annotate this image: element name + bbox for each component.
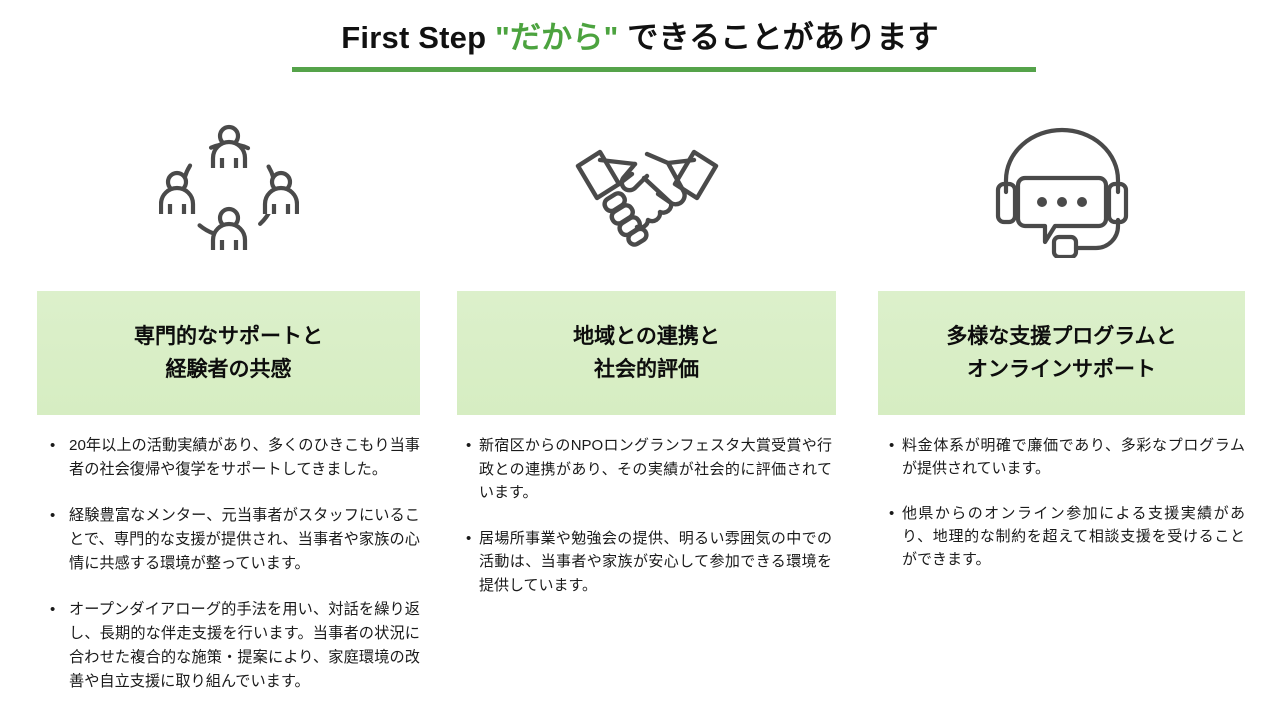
bullet-marker-icon: • [465, 434, 479, 458]
list-item: • 経験豊富なメンター、元当事者がスタッフにいることで、専門的な支援が提供され、… [47, 504, 420, 576]
headset-support-icon [878, 110, 1245, 270]
list-item: • 料金体系が明確で廉価であり、多彩なプログラムが提供されています。 [888, 434, 1245, 480]
list-item: • 他県からのオンライン参加による支援実績があり、地理的な制約を超えて相談支援を… [888, 502, 1245, 571]
list-item-text: 居場所事業や勉強会の提供、明るい雰囲気の中での活動は、当事者や家族が安心して参加… [479, 527, 832, 598]
list-item-text: オープンダイアローグ的手法を用い、対話を繰り返し、長期的な伴走支援を行います。当… [69, 598, 420, 694]
column-3-heading-line-2: オンラインサポート [967, 353, 1156, 386]
list-item-text: 新宿区からのNPOロングランフェスタ大賞受賞や行政との連携があり、その実績が社会… [479, 434, 832, 505]
list-item: • オープンダイアローグ的手法を用い、対話を繰り返し、長期的な伴走支援を行います… [47, 598, 420, 694]
page-title-tail: できることがあります [618, 20, 938, 55]
list-item-text: 20年以上の活動実績があり、多くのひきこもり当事者の社会復帰や復学をサポートして… [69, 434, 420, 482]
list-item-text: 経験豊富なメンター、元当事者がスタッフにいることで、専門的な支援が提供され、当事… [69, 504, 420, 576]
bullet-marker-icon: • [47, 504, 69, 528]
people-network-icon [37, 110, 420, 270]
page-title-lead: First Step [341, 20, 495, 55]
column-3-heading-box: 多様な支援プログラムと オンラインサポート [878, 291, 1245, 415]
slide-title-block: First Step "だから" できることがあります [0, 18, 1280, 58]
bullet-marker-icon: • [47, 434, 69, 458]
list-item: • 居場所事業や勉強会の提供、明るい雰囲気の中での活動は、当事者や家族が安心して… [465, 527, 832, 598]
column-2-heading-line-2: 社会的評価 [594, 353, 699, 386]
column-2-bullet-list: • 新宿区からのNPOロングランフェスタ大賞受賞や行政との連携があり、その実績が… [457, 434, 836, 619]
column-1-heading-line-1: 専門的なサポートと [134, 320, 323, 353]
column-2-heading-line-1: 地域との連携と [573, 320, 720, 353]
page-title-accent: "だから" [495, 20, 618, 55]
list-item-text: 料金体系が明確で廉価であり、多彩なプログラムが提供されています。 [902, 434, 1245, 480]
title-underline-rule [292, 67, 1036, 72]
page-title: First Step "だから" できることがあります [0, 18, 1280, 58]
list-item-text: 他県からのオンライン参加による支援実績があり、地理的な制約を超えて相談支援を受け… [902, 502, 1245, 571]
bullet-marker-icon: • [47, 598, 69, 622]
column-3-bullet-list: • 料金体系が明確で廉価であり、多彩なプログラムが提供されています。 • 他県か… [878, 434, 1245, 593]
column-1-heading-box: 専門的なサポートと 経験者の共感 [37, 291, 420, 415]
bullet-marker-icon: • [465, 527, 479, 551]
handshake-icon [457, 110, 836, 270]
list-item: • 20年以上の活動実績があり、多くのひきこもり当事者の社会復帰や復学をサポート… [47, 434, 420, 482]
column-2-heading-box: 地域との連携と 社会的評価 [457, 291, 836, 415]
column-1-heading-line-2: 経験者の共感 [166, 353, 292, 386]
column-1-bullet-list: • 20年以上の活動実績があり、多くのひきこもり当事者の社会復帰や復学をサポート… [37, 434, 420, 716]
column-3-heading-line-1: 多様な支援プログラムと [946, 320, 1176, 353]
bullet-marker-icon: • [888, 434, 902, 458]
bullet-marker-icon: • [888, 502, 902, 526]
list-item: • 新宿区からのNPOロングランフェスタ大賞受賞や行政との連携があり、その実績が… [465, 434, 832, 505]
